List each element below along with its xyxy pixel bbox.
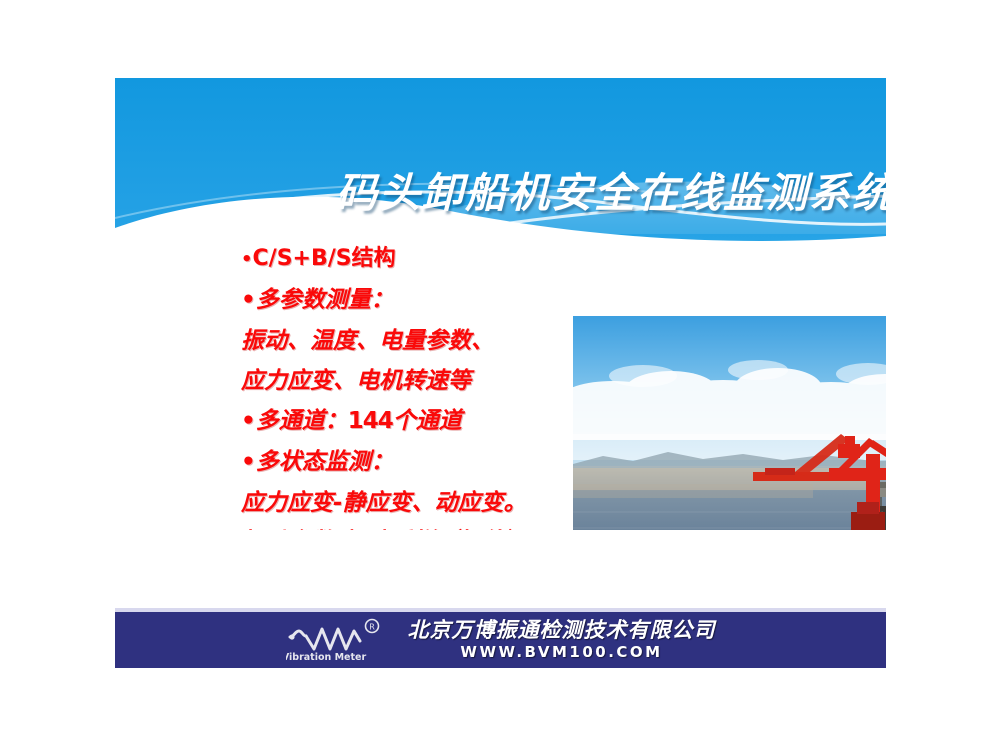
bullet-marker: •	[241, 287, 256, 313]
bullet-list: •C/S+B/S结构 •多参数测量： 振动、温度、电量参数、 应力应变、电机转速…	[241, 248, 581, 530]
bullet-line-6: •多状态监测：	[241, 451, 581, 474]
bullet-text: 多通道：	[256, 408, 348, 434]
bullet-line-4: 应力应变、电机转速等	[241, 370, 581, 393]
bullet-line-2: •多参数测量：	[241, 289, 581, 312]
bullet-text: C/S+B/S结构	[253, 246, 396, 271]
bullet-text: 多状态监测：	[256, 449, 394, 475]
bullet-text: 振动、温度、电量参数、	[241, 328, 494, 354]
bullet-text: 应力应变-静应变、动应变。	[241, 490, 527, 516]
bullet-line-1: •C/S+B/S结构	[241, 248, 581, 270]
company-name-cn: 北京万博振通检测技术有限公司	[408, 620, 716, 641]
footer-bar: R Vibration Meter 北京万博振通检测技术有限公司 WWW.BVM…	[115, 608, 886, 668]
channel-suffix: 个通道	[393, 408, 462, 434]
slide-title: 码头卸船机安全在线监测系统	[230, 173, 886, 214]
slide-canvas: 宁波大榭 码头卸船机安全在线监测系统 •C/S+B/S结构 •多参数测量： 振动…	[0, 0, 1000, 750]
photo-artwork: 宁波大榭	[573, 316, 886, 530]
bullet-line-5: •多通道：144个通道	[241, 410, 581, 433]
footer-content: R Vibration Meter 北京万博振通检测技术有限公司 WWW.BVM…	[115, 612, 886, 668]
svg-text:R: R	[369, 623, 375, 632]
company-website: WWW.BVM100.COM	[460, 645, 662, 660]
bullet-text: 振动参数-慢速采样〔振值〕	[241, 529, 527, 530]
logo-wordmark-text: Vibration Meter	[286, 652, 366, 663]
content-panel: 宁波大榭 码头卸船机安全在线监测系统 •C/S+B/S结构 •多参数测量： 振动…	[115, 78, 886, 530]
unloader-photo: 宁波大榭	[573, 316, 886, 530]
bullet-text: 应力应变、电机转速等	[241, 368, 471, 394]
waveform-logo-icon: R Vibration Meter	[286, 617, 394, 663]
bullet-marker: •	[241, 249, 253, 270]
bullet-marker: •	[241, 449, 256, 475]
bullet-text: 多参数测量：	[256, 287, 394, 313]
bullet-marker: •	[241, 408, 256, 434]
bullet-line-7: 应力应变-静应变、动应变。	[241, 492, 581, 515]
channel-count: 144	[348, 408, 393, 434]
bullet-line-3: 振动、温度、电量参数、	[241, 330, 581, 353]
company-brand: 北京万博振通检测技术有限公司 WWW.BVM100.COM	[408, 620, 716, 660]
vibration-meter-logo: R Vibration Meter	[286, 617, 394, 663]
